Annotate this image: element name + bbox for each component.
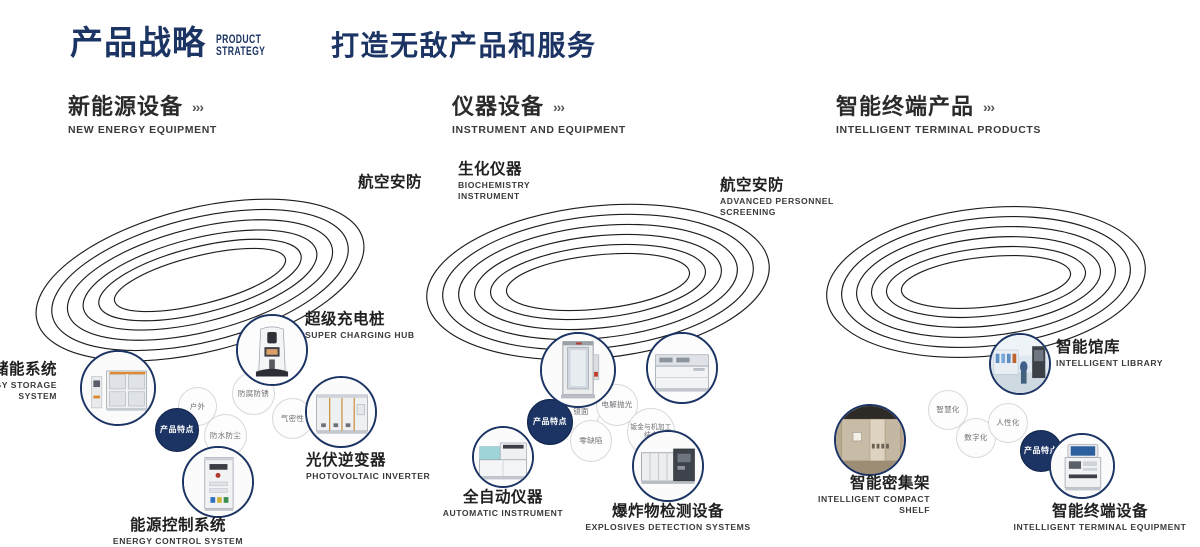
- feature-label: 零缺陷: [579, 436, 602, 445]
- caption-explosives-detection: 爆炸物检测设备 EXPLOSIVES DETECTION SYSTEMS: [578, 504, 758, 533]
- node-automatic-instrument[interactable]: [472, 426, 534, 488]
- core-label: 产品特点: [160, 425, 194, 435]
- node-advanced-personnel-screening[interactable]: [646, 332, 718, 404]
- caption-en: INTELLIGENT COMPACT SHELF: [760, 494, 930, 515]
- caption-cn: 爆炸物检测设备: [578, 504, 758, 520]
- feature-label: 镜面: [573, 407, 589, 416]
- feature-bubble: 人性化: [988, 403, 1028, 443]
- brand-title-cn: 产品战略: [70, 26, 206, 59]
- caption-energy-control-system: 能源控制系统 ENERGY CONTROL SYSTEM: [78, 518, 278, 547]
- core-bubble-product-features: 产品特点: [155, 408, 199, 452]
- caption-terminal-equipment: 智能终端设备 INTELLIGENT TERMINAL EQUIPMENT: [1000, 504, 1200, 533]
- terminal-kiosk-icon: [1051, 435, 1113, 497]
- caption-cn: 全自动仪器: [418, 490, 588, 506]
- node-energy-storage[interactable]: [80, 350, 156, 426]
- section-en-3: INTELLIGENT TERMINAL PRODUCTS: [836, 125, 1041, 136]
- control-cabinet-icon: [184, 448, 252, 516]
- screening-machine-icon: [648, 334, 716, 402]
- compact-shelf-icon: [836, 406, 904, 474]
- brand-en-line2: STRATEGY: [216, 45, 265, 57]
- caption-en: INTELLIGENT TERMINAL EQUIPMENT: [1000, 522, 1200, 533]
- node-pv-inverter[interactable]: [305, 376, 377, 448]
- caption-en: AUTOMATIC INSTRUMENT: [418, 508, 588, 519]
- caption-en-line2: SYSTEM: [0, 391, 57, 402]
- caption-en: ENERGY STORAGE SYSTEM: [0, 380, 57, 401]
- node-biochemistry-instrument[interactable]: [540, 332, 616, 408]
- caption-aviation-security-left: 航空安防: [322, 175, 422, 191]
- caption-en: INTELLIGENT LIBRARY: [1056, 358, 1200, 369]
- section-title-instrument: 仪器设备 ››› INSTRUMENT AND EQUIPMENT: [452, 96, 626, 136]
- caption-en: PHOTOVOLTAIC INVERTER: [306, 471, 476, 482]
- section-cn-3: 智能终端产品 ›››: [836, 96, 1041, 118]
- caption-en-line1: ENERGY STORAGE: [0, 380, 57, 391]
- biochem-scanner-icon: [542, 334, 614, 406]
- section-cn-2: 仪器设备 ›››: [452, 96, 626, 118]
- caption-cn: 航空安防: [322, 175, 422, 191]
- feature-label: 数字化: [964, 433, 987, 442]
- charging-pile-icon: [238, 316, 306, 384]
- caption-automatic-instrument: 全自动仪器 AUTOMATIC INSTRUMENT: [418, 490, 588, 519]
- core-label: 产品特点: [533, 417, 567, 427]
- caption-cn: 能源控制系统: [78, 518, 278, 534]
- cluster-intelligent-terminal: 智慧化 数字化 人性化 产品特点 智能馆库 INTELLIGENT: [800, 150, 1200, 410]
- caption-compact-shelf: 智能密集架 INTELLIGENT COMPACT SHELF: [760, 476, 930, 516]
- section-title-intelligent-terminal: 智能终端产品 ››› INTELLIGENT TERMINAL PRODUCTS: [836, 96, 1041, 136]
- caption-cn: 储能系统: [0, 362, 57, 378]
- feature-label: 防腐防锈: [238, 389, 269, 398]
- section-cn-1: 新能源设备 ›››: [68, 96, 217, 118]
- caption-en: ENERGY CONTROL SYSTEM: [78, 536, 278, 547]
- smart-library-icon: [991, 335, 1049, 393]
- feature-bubble: 零缺陷: [570, 420, 612, 462]
- caption-en-line1: BIOCHEMISTRY: [458, 180, 618, 191]
- section-cn-text-2: 仪器设备: [452, 96, 544, 118]
- caption-cn: 智能馆库: [1056, 340, 1200, 356]
- node-compact-shelf[interactable]: [834, 404, 906, 476]
- chevron-right-icon: ›››: [983, 100, 994, 114]
- section-en-1: NEW ENERGY EQUIPMENT: [68, 125, 217, 136]
- node-explosives-detection[interactable]: [632, 430, 704, 502]
- pv-inverter-icon: [307, 378, 375, 446]
- section-en-2: INSTRUMENT AND EQUIPMENT: [452, 125, 626, 136]
- caption-biochemistry-instrument: 生化仪器 BIOCHEMISTRY INSTRUMENT: [458, 162, 618, 202]
- node-terminal-equipment[interactable]: [1049, 433, 1115, 499]
- feature-label: 防水防尘: [210, 431, 241, 440]
- automatic-instrument-icon: [474, 428, 532, 486]
- caption-en: BIOCHEMISTRY INSTRUMENT: [458, 180, 618, 201]
- feature-label: 户外: [190, 402, 206, 411]
- headline-slogan: 打造无敌产品和服务: [331, 32, 597, 60]
- caption-en: EXPLOSIVES DETECTION SYSTEMS: [578, 522, 758, 533]
- caption-cn: 生化仪器: [458, 162, 618, 178]
- product-strategy-infographic: 产品战略 PRODUCT STRATEGY 打造无敌产品和服务 新能源设备 ››…: [0, 0, 1200, 422]
- caption-cn: 智能终端设备: [1000, 504, 1200, 520]
- section-title-new-energy: 新能源设备 ››› NEW ENERGY EQUIPMENT: [68, 96, 217, 136]
- brand-title-en: PRODUCT STRATEGY: [216, 33, 265, 57]
- cluster-instrument: 镜面 电解抛光 零缺陷 钣金与机加工结合 产品特点 生化仪器 BIOCHEMIS…: [400, 150, 800, 410]
- caption-en-line2: SHELF: [760, 505, 930, 516]
- feature-label: 人性化: [996, 418, 1019, 427]
- caption-energy-storage: 储能系统 ENERGY STORAGE SYSTEM: [0, 362, 57, 402]
- feature-label: 智慧化: [936, 405, 959, 414]
- caption-intelligent-library: 智能馆库 INTELLIGENT LIBRARY: [1056, 340, 1200, 369]
- battery-cabinet-icon: [82, 352, 154, 424]
- caption-en-line2: INSTRUMENT: [458, 191, 618, 202]
- section-cn-text-1: 新能源设备: [68, 96, 183, 118]
- node-intelligent-library[interactable]: [989, 333, 1051, 395]
- caption-pv-inverter: 光伏逆变器 PHOTOVOLTAIC INVERTER: [306, 453, 476, 482]
- chevron-right-icon: ›››: [553, 100, 564, 114]
- explosives-detector-icon: [634, 432, 702, 500]
- chevron-right-icon: ›››: [192, 100, 203, 114]
- brand-header: 产品战略 PRODUCT STRATEGY: [70, 26, 284, 59]
- caption-cn: 光伏逆变器: [306, 453, 476, 469]
- caption-cn: 智能密集架: [760, 476, 930, 492]
- section-cn-text-3: 智能终端产品: [836, 96, 974, 118]
- node-energy-control-system[interactable]: [182, 446, 254, 518]
- caption-en-line1: INTELLIGENT COMPACT: [760, 494, 930, 505]
- node-super-charging-hub[interactable]: [236, 314, 308, 386]
